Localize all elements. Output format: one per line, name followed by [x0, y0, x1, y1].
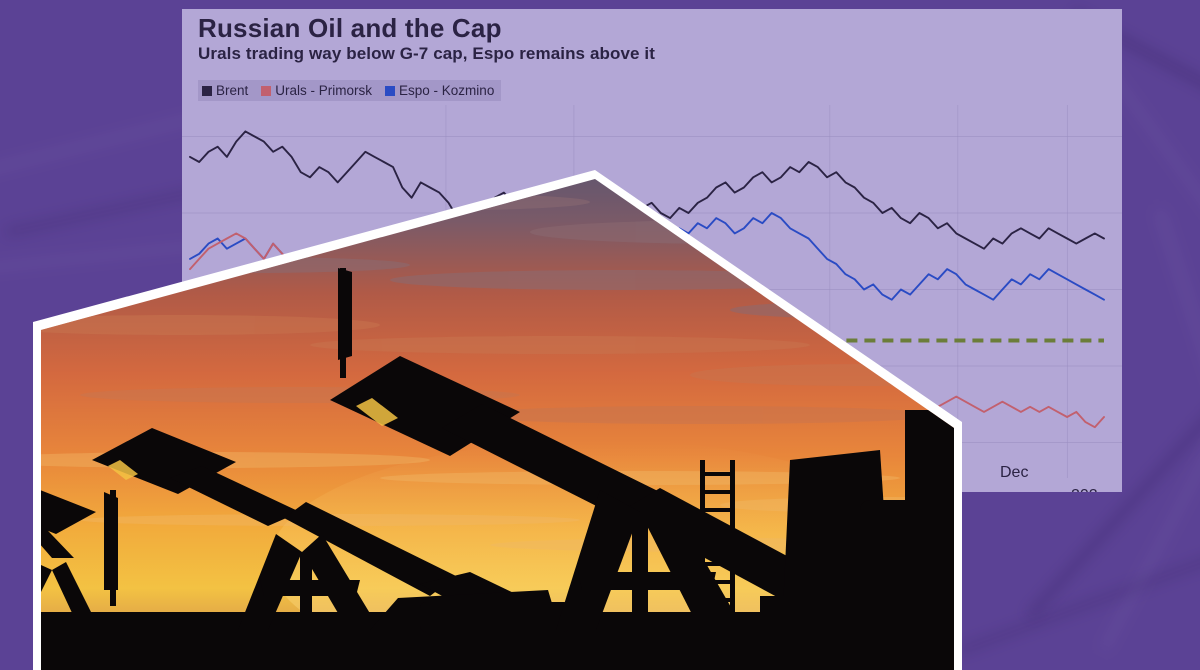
- chart-title: Russian Oil and the Cap: [198, 15, 1114, 42]
- legend-swatch-urals: [261, 86, 271, 96]
- legend-item-urals[interactable]: Urals - Primorsk: [261, 83, 372, 98]
- legend-swatch-espo: [385, 86, 395, 96]
- legend-label-espo: Espo - Kozmino: [399, 83, 494, 98]
- x-tick-year: 202: [1071, 487, 1098, 492]
- legend-label-brent: Brent: [216, 83, 248, 98]
- photo-overlay-card: [0, 160, 980, 670]
- legend-item-espo[interactable]: Espo - Kozmino: [385, 83, 494, 98]
- x-tick-dec: Dec: [1000, 464, 1028, 482]
- pumpjack-sunset-illustration: [0, 160, 980, 670]
- legend-label-urals: Urals - Primorsk: [275, 83, 372, 98]
- legend-item-brent[interactable]: Brent: [202, 83, 248, 98]
- chart-header: Russian Oil and the Cap Urals trading wa…: [198, 15, 1114, 64]
- screenshot-stage: Russian Oil and the Cap Urals trading wa…: [0, 0, 1200, 670]
- legend-swatch-brent: [202, 86, 212, 96]
- chart-subtitle: Urals trading way below G-7 cap, Espo re…: [198, 45, 1114, 64]
- photo-image: [0, 160, 980, 670]
- chart-legend: Brent Urals - Primorsk Espo - Kozmino: [198, 80, 501, 101]
